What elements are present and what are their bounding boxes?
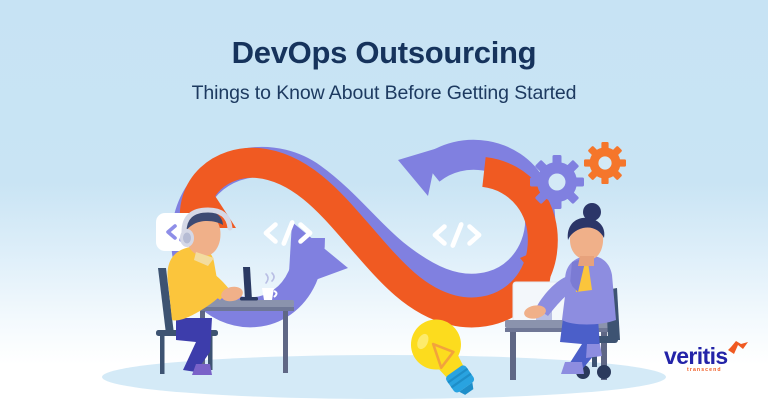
infinity-purple-arrowhead-2 <box>398 148 438 196</box>
banner-canvas: DevOps Outsourcing Things to Know About … <box>0 0 768 405</box>
veritis-logo[interactable]: veritis transcend <box>664 344 754 382</box>
code-glyph-right-icon <box>435 225 479 246</box>
gear-purple-large-icon <box>530 155 584 209</box>
gear-orange-small-icon <box>584 142 626 184</box>
logo-swoosh-icon <box>727 341 749 355</box>
person-right-scene <box>505 203 620 380</box>
monitor-left <box>240 267 258 301</box>
logo-wordmark: veritis <box>664 344 728 369</box>
logo-tagline: transcend <box>687 367 722 374</box>
coffee-mug <box>262 273 277 300</box>
illustration <box>0 0 768 405</box>
person-right-head <box>568 203 605 266</box>
